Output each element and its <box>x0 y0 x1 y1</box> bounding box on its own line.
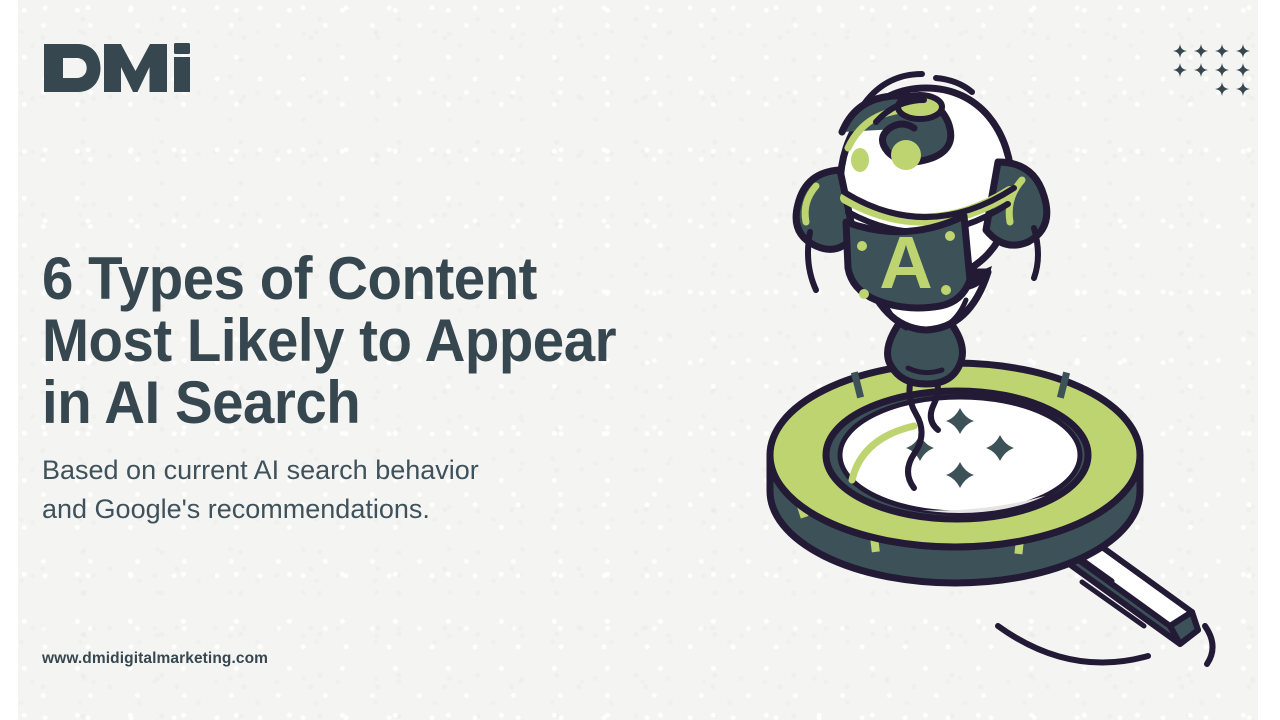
robot-badge-letter: A <box>879 221 932 304</box>
page-subtitle: Based on current AI search behavior and … <box>42 451 682 530</box>
robot-eye-right <box>891 140 921 170</box>
sparkle-icon <box>1236 82 1250 96</box>
website-url[interactable]: www.dmidigitalmarketing.com <box>42 650 268 668</box>
sparkle-icon <box>1236 63 1250 77</box>
sparkle-row <box>1166 44 1250 58</box>
sparkle-icon <box>1194 44 1208 58</box>
robot-magnifier-illustration: A <box>760 70 1230 670</box>
sparkle-icon <box>1215 44 1229 58</box>
slide-root: 6 Types of Content Most Likely to Appear… <box>0 0 1280 720</box>
dmi-logo[interactable] <box>42 42 202 94</box>
robot-character: A <box>796 74 1047 384</box>
magnifier-glass <box>770 363 1140 583</box>
sparkle-icon <box>1173 44 1187 58</box>
page-title: 6 Types of Content Most Likely to Appear… <box>42 248 756 433</box>
sparkle-icon <box>1236 44 1250 58</box>
robot-eye-left <box>851 148 869 172</box>
